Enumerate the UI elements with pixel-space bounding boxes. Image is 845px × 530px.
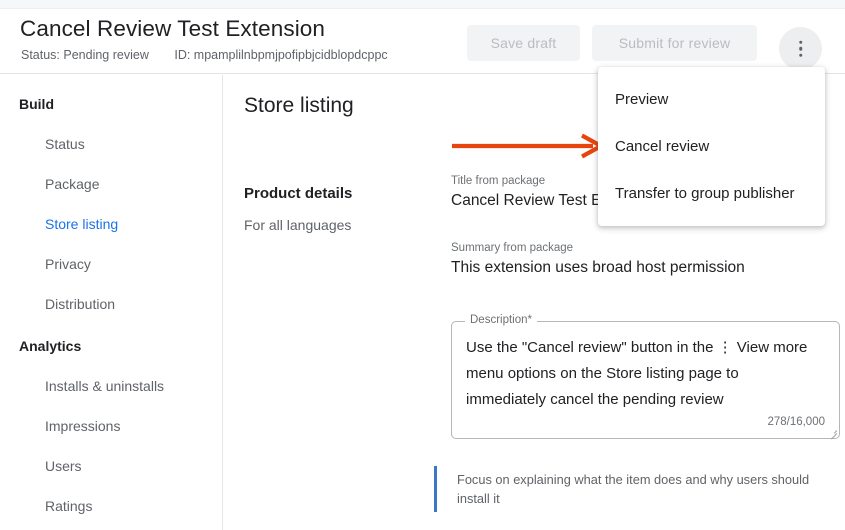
sidebar-item-users[interactable]: Users <box>0 446 222 486</box>
title-field-label: Title from package <box>451 175 601 187</box>
summary-from-package-field: Summary from package This extension uses… <box>451 242 745 277</box>
page-title: Store listing <box>244 94 354 118</box>
submit-for-review-button[interactable]: Submit for review <box>592 25 757 61</box>
more-options-button[interactable] <box>779 27 822 70</box>
sidebar-item-store-listing[interactable]: Store listing <box>0 204 222 244</box>
sidebar-item-distribution[interactable]: Distribution <box>0 284 222 324</box>
product-details-heading: Product details <box>244 185 352 202</box>
extension-meta: Status: Pending review ID: mpamplilnbpmj… <box>21 48 388 62</box>
sidebar-item-status[interactable]: Status <box>0 124 222 164</box>
sidebar-nav: Build Status Package Store listing Priva… <box>0 75 223 530</box>
extension-title: Cancel Review Test Extension <box>20 16 325 42</box>
summary-field-value: This extension uses broad host permissio… <box>451 259 745 277</box>
summary-field-label: Summary from package <box>451 242 745 254</box>
sidebar-item-package[interactable]: Package <box>0 164 222 204</box>
more-options-menu: Preview Cancel review Transfer to group … <box>598 67 825 226</box>
resize-handle-icon[interactable] <box>828 427 837 436</box>
product-details-subtitle: For all languages <box>244 217 351 233</box>
description-hint-text: Focus on explaining what the item does a… <box>457 470 814 508</box>
save-draft-button[interactable]: Save draft <box>467 25 580 61</box>
description-char-counter: 278/16,000 <box>767 416 825 428</box>
extension-id: ID: mpamplilnbpmjpofipbjcidblopdcppc <box>174 48 387 62</box>
sidebar-group-build: Build <box>0 92 222 124</box>
page-header: Cancel Review Test Extension Status: Pen… <box>0 10 845 74</box>
title-field-value: Cancel Review Test E <box>451 192 601 210</box>
sidebar-item-impressions[interactable]: Impressions <box>0 406 222 446</box>
extension-status: Status: Pending review <box>21 48 149 62</box>
menu-item-preview[interactable]: Preview <box>598 76 825 123</box>
menu-item-cancel-review[interactable]: Cancel review <box>598 123 825 170</box>
more-vert-icon <box>799 40 803 57</box>
sidebar-item-ratings[interactable]: Ratings <box>0 486 222 526</box>
menu-item-transfer-to-group-publisher[interactable]: Transfer to group publisher <box>598 170 825 217</box>
title-from-package-field: Title from package Cancel Review Test E <box>451 175 601 210</box>
description-value: Use the "Cancel review" button in the ⋮ … <box>466 335 818 413</box>
sidebar-item-privacy[interactable]: Privacy <box>0 244 222 284</box>
browser-top-strip <box>0 0 845 9</box>
sidebar-item-installs-uninstalls[interactable]: Installs & uninstalls <box>0 366 222 406</box>
description-label: Description* <box>465 314 537 326</box>
description-hint: Focus on explaining what the item does a… <box>434 466 814 512</box>
sidebar-group-analytics: Analytics <box>0 334 222 366</box>
description-textarea[interactable]: Description* Use the "Cancel review" but… <box>451 321 840 439</box>
app-root: Cancel Review Test Extension Status: Pen… <box>0 0 845 530</box>
